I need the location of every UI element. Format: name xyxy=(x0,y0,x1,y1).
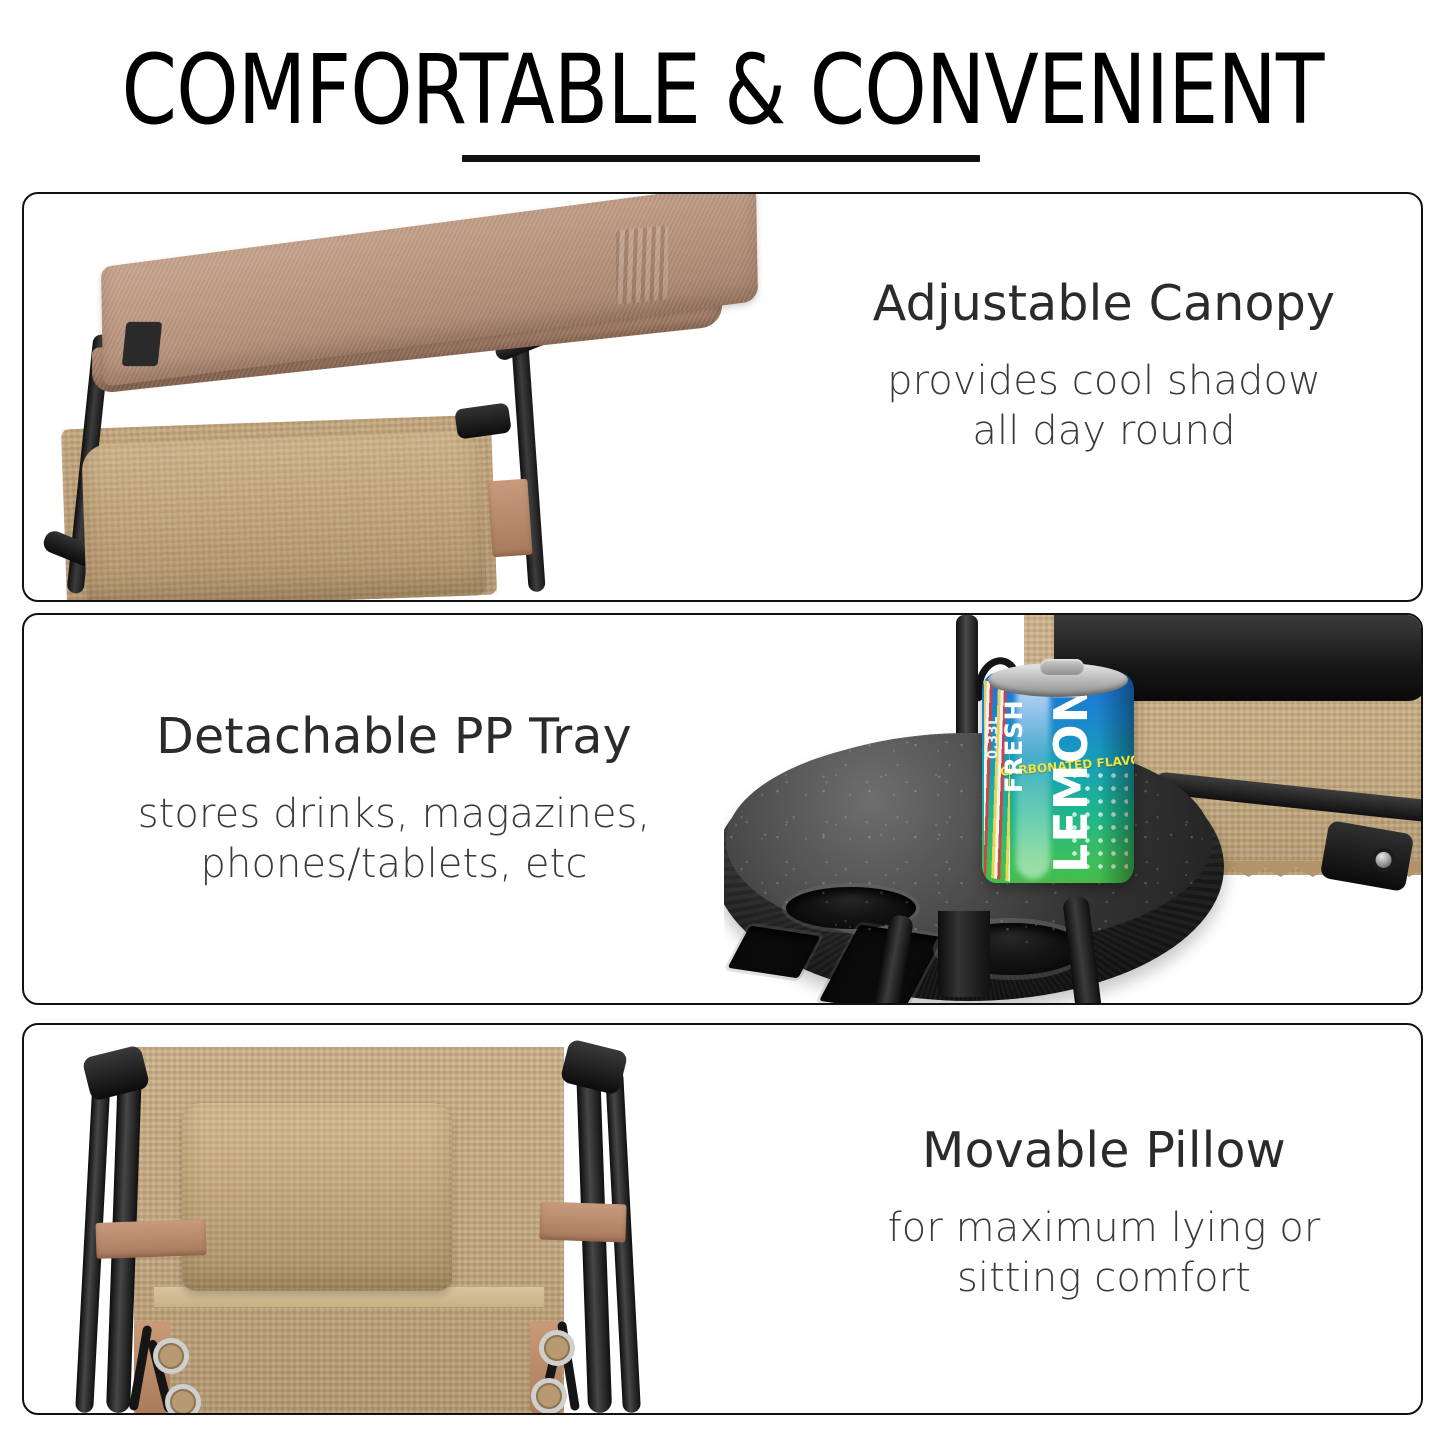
tray-description: stores drinks, magazines, phones/tablets… xyxy=(64,789,724,889)
canopy-description-line1: provides cool shadow xyxy=(887,358,1321,404)
tray-text-block: Detachable PP Tray stores drinks, magazi… xyxy=(64,707,724,889)
tray-description-line1: stores drinks, magazines, xyxy=(138,791,651,837)
pillow-text-block: Movable Pillow for maximum lying or sitt… xyxy=(784,1121,1423,1303)
chair-back-post xyxy=(956,615,978,741)
infographic-page: COMFORTABLE & CONVENIENT Adjustable Cano… xyxy=(0,0,1445,1445)
canopy-description: provides cool shadow all day round xyxy=(784,356,1423,456)
tray-support-stem xyxy=(938,911,990,997)
pillow-strap-right xyxy=(539,1202,626,1243)
lacing-eyelet xyxy=(158,1343,184,1369)
pillow-strap xyxy=(487,479,532,558)
canopy-description-line2: all day round xyxy=(972,408,1235,454)
canopy-heading: Adjustable Canopy xyxy=(784,274,1423,334)
can-fresh-label: FRESH xyxy=(1000,699,1028,793)
lacing-eyelet xyxy=(170,1389,196,1413)
pillow-description: for maximum lying or sitting comfort xyxy=(784,1203,1423,1303)
canopy-pivot-hub xyxy=(454,402,512,439)
canopy-pleat-detail xyxy=(616,225,668,304)
frame-end-cap xyxy=(560,1038,629,1095)
pillow-description-line2: sitting comfort xyxy=(957,1255,1251,1301)
headrest-pillow xyxy=(81,431,486,600)
lacing-eyelet xyxy=(544,1335,570,1361)
bracket-bolt xyxy=(1374,851,1393,870)
can-shadow-edge xyxy=(1098,673,1134,883)
soda-can: 0.33L CARBONATED FLAVOR SOFT DRINK FRESH… xyxy=(982,673,1134,883)
feature-panel-canopy: Adjustable Canopy provides cool shadow a… xyxy=(22,192,1423,602)
can-volume-label: 0.33L xyxy=(986,716,1001,759)
lacing-eyelet xyxy=(536,1383,562,1409)
can-pull-tab xyxy=(1040,659,1084,675)
title-divider xyxy=(462,155,980,162)
tray-description-line2: phones/tablets, etc xyxy=(201,841,588,887)
pillow-strap-left xyxy=(95,1219,206,1259)
can-lid xyxy=(988,663,1128,697)
pillow-photo xyxy=(24,1025,784,1413)
pillow-description-line1: for maximum lying or xyxy=(888,1205,1321,1251)
canopy-text-block: Adjustable Canopy provides cool shadow a… xyxy=(784,274,1423,456)
movable-pillow xyxy=(182,1103,452,1291)
tray-heading: Detachable PP Tray xyxy=(64,707,724,767)
canopy-photo xyxy=(24,194,784,600)
pillow-heading: Movable Pillow xyxy=(784,1121,1423,1181)
tray-photo: 0.33L CARBONATED FLAVOR SOFT DRINK FRESH… xyxy=(724,615,1423,1003)
canopy-corner-tab xyxy=(122,322,162,366)
page-header: COMFORTABLE & CONVENIENT xyxy=(0,0,1445,180)
can-flavor-label: LEMON xyxy=(1044,684,1098,873)
feature-panel-pillow: Movable Pillow for maximum lying or sitt… xyxy=(22,1023,1423,1415)
page-title: COMFORTABLE & CONVENIENT xyxy=(58,36,1387,144)
feature-panel-tray: Detachable PP Tray stores drinks, magazi… xyxy=(22,613,1423,1005)
